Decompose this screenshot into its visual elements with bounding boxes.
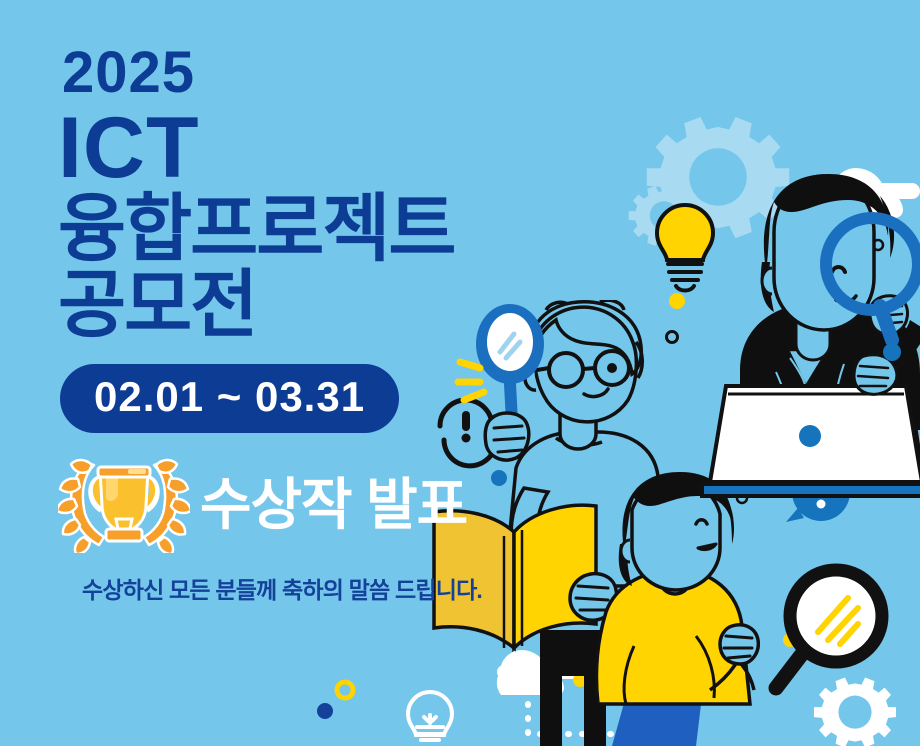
cloud-icon [497, 650, 580, 695]
dot [317, 703, 333, 719]
congratulation-message: 수상하신 모든 분들께 축하의 말씀 드립니다. [82, 571, 696, 605]
dotted-path-icon [528, 690, 640, 734]
magnifier-icon [740, 560, 920, 746]
award-announcement-row: 수상작 발표 [58, 457, 696, 553]
promo-banner: 2025 ICT 융합프로젝트 공모전 02.01 ~ 03.31 [0, 0, 920, 746]
dot [783, 633, 797, 647]
title-line-2: 공모전 [58, 268, 696, 342]
woman-head [761, 174, 894, 330]
woman-body [740, 300, 920, 430]
dot [873, 240, 883, 250]
hand-left [854, 343, 901, 394]
hand-holding-magnifier [870, 296, 908, 335]
laptop-icon [702, 386, 920, 496]
lightbulb-outline-icon [408, 692, 452, 740]
headline-block: 2025 ICT 융합프로젝트 공모전 02.01 ~ 03.31 [56, 44, 696, 605]
acronym-label: ICT [58, 106, 696, 190]
date-range-badge: 02.01 ~ 03.31 [60, 364, 399, 433]
award-title: 수상작 발표 [200, 477, 467, 533]
trophy-wreath-icon [58, 457, 190, 553]
title-line-1: 융합프로젝트 [58, 192, 696, 266]
dot [337, 682, 353, 698]
cloud-icon [828, 168, 920, 218]
gear-icon [814, 678, 896, 746]
arm-right [870, 320, 920, 380]
dot [573, 673, 587, 687]
exclamation-bubble-icon [786, 463, 850, 522]
year-label: 2025 [62, 44, 696, 102]
dot [737, 493, 747, 503]
magnifier-icon [826, 218, 918, 340]
neck [796, 312, 830, 360]
